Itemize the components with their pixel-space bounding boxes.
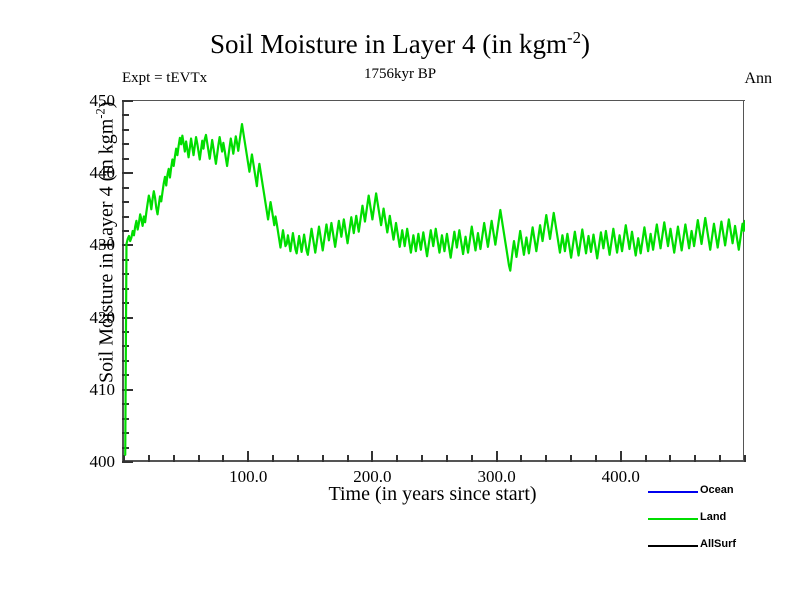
data-series-canvas [124,101,745,462]
legend-item-label: Land [700,511,726,523]
legend-color-swatch [648,491,698,493]
chart-page: Soil Moisture in Layer 4 (in kgm-2) Expt… [0,0,800,600]
chart-title: Soil Moisture in Layer 4 (in kgm-2) [0,28,800,60]
chart-title-exponent: -2 [567,28,581,47]
plot-area: 400410420430440450100.0200.0300.0400.0 [122,101,743,462]
y-axis-title: Soil Moisture in Layer 4 (in kgm-2) [94,2,119,482]
legend-item-label: AllSurf [700,538,736,550]
chart-subtitle: 1756kyr BP [0,66,800,83]
legend-color-swatch [648,545,698,547]
legend-item[interactable]: Ocean [648,484,798,511]
period-label: Ann [744,70,772,88]
y-axis-title-close-paren: ) [95,102,117,109]
chart-title-text: Soil Moisture in Layer 4 (in kgm [210,29,567,59]
y-axis-title-exponent: -2 [94,108,108,118]
chart-legend: OceanLandAllSurf [648,484,798,565]
legend-color-swatch [648,518,698,520]
legend-item[interactable]: Land [648,511,798,538]
legend-item-label: Ocean [700,484,734,496]
series-line-land [125,124,745,455]
y-axis-title-text: Soil Moisture in Layer 4 (in kgm [95,119,117,383]
legend-item[interactable]: AllSurf [648,538,798,565]
chart-title-close-paren: ) [581,29,590,59]
